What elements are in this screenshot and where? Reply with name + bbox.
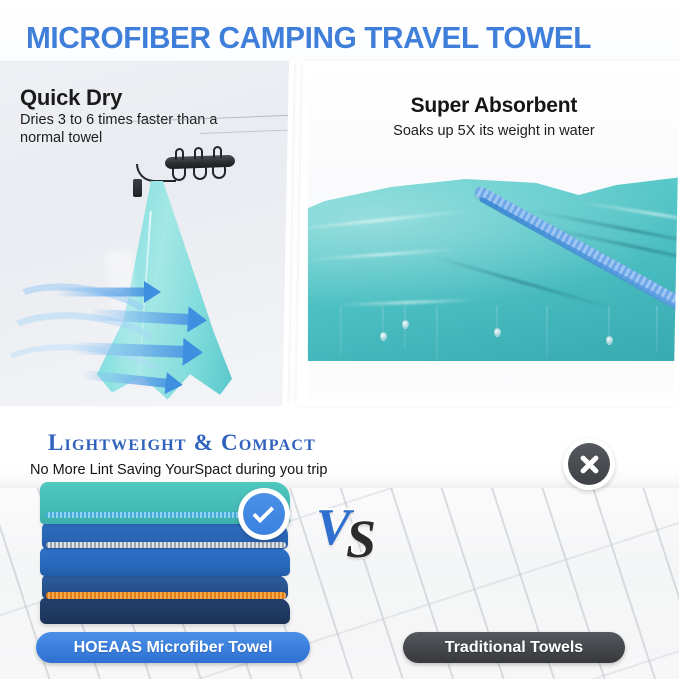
panel-super-absorbent: Super Absorbent Soaks up 5X its weight i… [296,61,679,406]
rack-peg-icon [213,146,222,158]
microfiber-towel-label: HOEAAS Microfiber Towel [36,632,310,663]
lightweight-subtext: No More Lint Saving YourSpact during you… [30,462,327,478]
airflow-arrows-icon [12,279,222,399]
panel-quick-dry: Quick Dry Dries 3 to 6 times faster than… [0,61,294,406]
vs-badge: V S [316,498,388,560]
towel-clip-icon [133,179,142,197]
water-drips-icon [308,306,679,376]
vs-letter-s: S [346,508,376,570]
rack-hook-icon [193,165,207,180]
towel-layer [40,548,290,576]
super-absorbent-content: Super Absorbent Soaks up 5X its weight i… [308,66,679,401]
lightweight-heading: Lightweight & Compact [48,430,316,456]
wall-hook-rack-icon [157,146,239,190]
product-infographic: MICROFIBER CAMPING TRAVEL TOWEL Quick Dr… [0,0,679,679]
check-mark-icon [252,501,274,523]
rack-arm-icon [136,164,176,182]
header-banner: MICROFIBER CAMPING TRAVEL TOWEL [0,0,679,62]
x-badge-icon [563,438,615,490]
rack-hook-icon [212,164,226,179]
page-title: MICROFIBER CAMPING TRAVEL TOWEL [26,20,591,56]
towel-trim-grey [46,542,286,548]
towel-trim-orange [46,592,286,599]
check-badge-icon [238,488,290,540]
super-absorbent-subtext: Soaks up 5X its weight in water [308,123,679,139]
rack-peg-icon [175,148,184,160]
check-badge-disc [243,493,285,535]
traditional-towel-label: Traditional Towels [403,632,625,663]
quick-dry-content: Quick Dry Dries 3 to 6 times faster than… [0,61,289,406]
x-badge-disc [568,443,610,485]
super-absorbent-heading: Super Absorbent [308,94,679,118]
quick-dry-heading: Quick Dry [20,85,122,111]
towel-layer [40,598,290,624]
rack-peg-icon [194,147,203,159]
airflow-arrow-icon [72,335,191,365]
airflow-arrow-icon [54,281,148,303]
